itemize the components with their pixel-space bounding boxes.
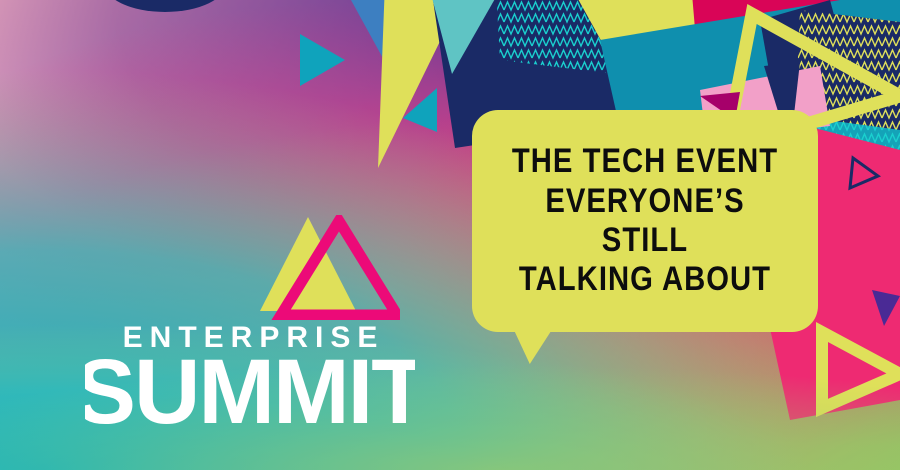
speech-bubble: THE TECH EVENT EVERYONE’S STILL TALKING … (472, 110, 818, 332)
banner-canvas: ENTERPRISE SUMMIT THE TECH EVENT EVERYON… (0, 0, 900, 470)
callout-text: THE TECH EVENT EVERYONE’S STILL TALKING … (496, 142, 794, 300)
